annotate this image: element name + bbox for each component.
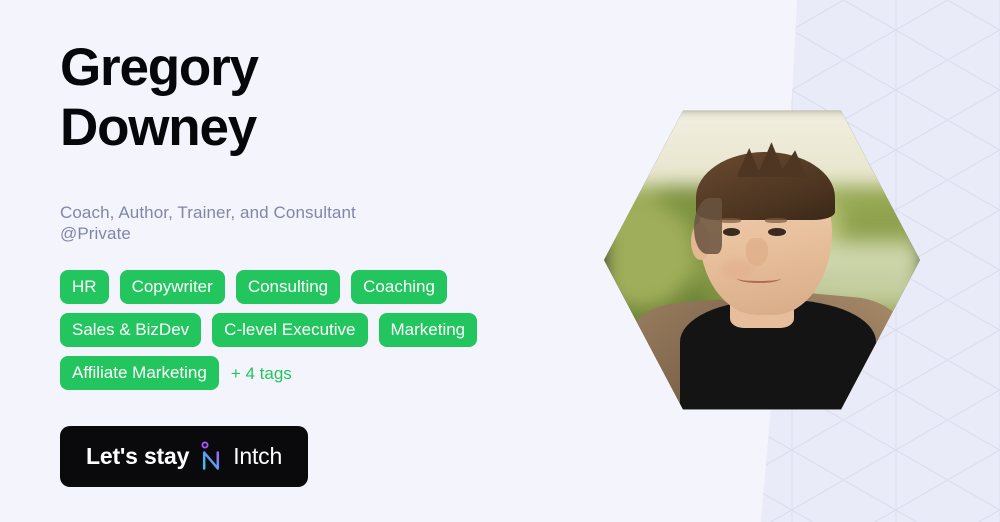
tag-chip[interactable]: C-level Executive: [212, 313, 367, 347]
headline-line-1: Coach, Author, Trainer, and Consultant: [60, 203, 356, 222]
photo-sideburn: [694, 198, 722, 253]
tag-chip[interactable]: HR: [60, 270, 109, 304]
photo-mouth: [737, 274, 781, 283]
tag-chip[interactable]: Marketing: [379, 313, 478, 347]
tag-chip[interactable]: Affiliate Marketing: [60, 356, 219, 390]
avatar: [604, 106, 920, 414]
photo-eye-right: [768, 228, 785, 236]
profile-card: Gregory Downey Coach, Author, Trainer, a…: [0, 0, 1000, 522]
photo-eyebrow-left: [719, 218, 741, 223]
tag-chip[interactable]: Consulting: [236, 270, 340, 304]
profile-headline: Coach, Author, Trainer, and Consultant @…: [60, 202, 490, 244]
tag-list: HR Copywriter Consulting Coaching Sales …: [60, 270, 550, 390]
avatar-hexagon-frame: [604, 106, 920, 414]
tag-chip[interactable]: Coaching: [351, 270, 447, 304]
intch-n-logo-icon: [198, 441, 224, 471]
first-name: Gregory: [60, 38, 620, 98]
last-name: Downey: [60, 98, 620, 158]
more-tags-link[interactable]: + 4 tags: [230, 365, 292, 382]
headline-line-2: @Private: [60, 223, 490, 244]
avatar-photo: [604, 106, 920, 414]
photo-eyebrow-right: [765, 218, 787, 223]
cta-brand-name: Intch: [233, 445, 282, 468]
profile-info: Gregory Downey Coach, Author, Trainer, a…: [60, 0, 620, 522]
cta-label: Let's stay: [86, 445, 189, 468]
tag-chip[interactable]: Sales & BizDev: [60, 313, 201, 347]
photo-eye-left: [723, 228, 740, 236]
page-title: Gregory Downey: [60, 38, 620, 158]
lets-stay-intch-button[interactable]: Let's stay Intch: [60, 426, 308, 487]
tag-chip[interactable]: Copywriter: [120, 270, 225, 304]
